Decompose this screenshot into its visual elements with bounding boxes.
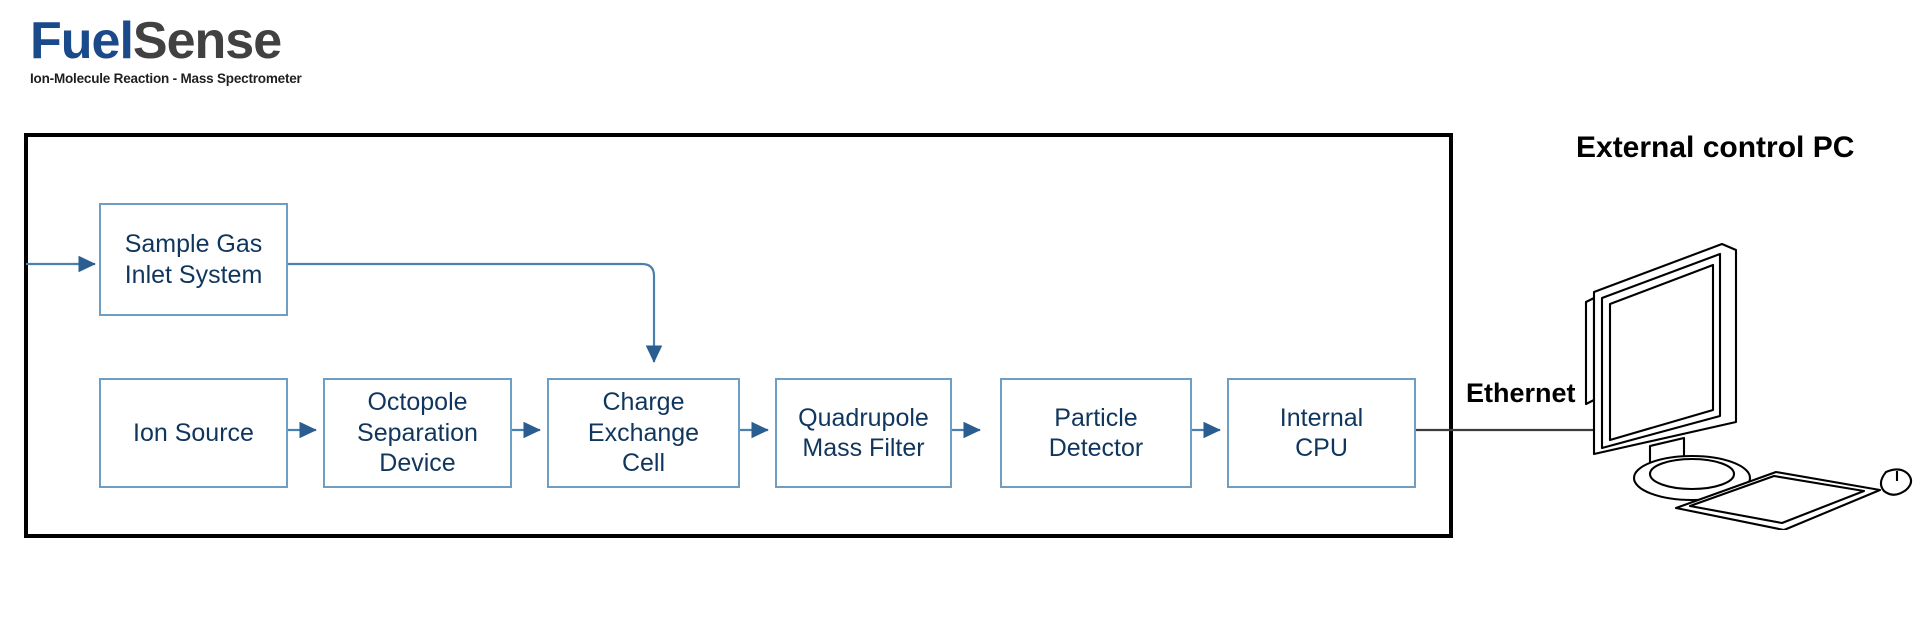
logo-wordmark: FuelSense — [30, 14, 360, 69]
block-particle-detector[interactable]: Particle Detector — [1000, 378, 1192, 488]
block-label-line2: Detector — [1049, 433, 1143, 464]
block-label-line2: Inlet System — [125, 260, 263, 291]
product-logo: FuelSense Ion-Molecule Reaction - Mass S… — [30, 14, 360, 86]
block-label-line1: Ion Source — [133, 418, 254, 449]
block-octopole-separation-device[interactable]: Octopole Separation Device — [323, 378, 512, 488]
external-control-pc-title: External control PC — [1576, 131, 1854, 165]
logo-word-primary: Fuel — [30, 12, 133, 70]
block-internal-cpu[interactable]: Internal CPU — [1227, 378, 1416, 488]
block-label-line1: Quadrupole — [798, 403, 929, 434]
block-label-line1: Sample Gas — [125, 229, 263, 260]
monitor-stand-base-inner — [1650, 459, 1734, 489]
block-label-line2: CPU — [1280, 433, 1363, 464]
ethernet-link-label: Ethernet — [1466, 378, 1576, 409]
block-sample-gas-inlet-system[interactable]: Sample Gas Inlet System — [99, 203, 288, 316]
block-charge-exchange-cell[interactable]: Charge Exchange Cell — [547, 378, 740, 488]
block-label-line2: Separation — [357, 418, 478, 449]
external-pc-illustration — [1580, 240, 1920, 530]
block-label-line1: Charge — [588, 387, 699, 418]
block-label-line1: Octopole — [357, 387, 478, 418]
block-label-line3: Cell — [588, 448, 699, 479]
block-label-line2: Mass Filter — [798, 433, 929, 464]
monitor-side-port — [1586, 298, 1594, 404]
block-label-line2: Exchange — [588, 418, 699, 449]
logo-tagline: Ion-Molecule Reaction - Mass Spectromete… — [30, 71, 360, 86]
logo-word-secondary: Sense — [133, 12, 281, 70]
block-label-line1: Particle — [1049, 403, 1143, 434]
block-label-line3: Device — [357, 448, 478, 479]
block-ion-source[interactable]: Ion Source — [99, 378, 288, 488]
block-label-line1: Internal — [1280, 403, 1363, 434]
block-quadrupole-mass-filter[interactable]: Quadrupole Mass Filter — [775, 378, 952, 488]
